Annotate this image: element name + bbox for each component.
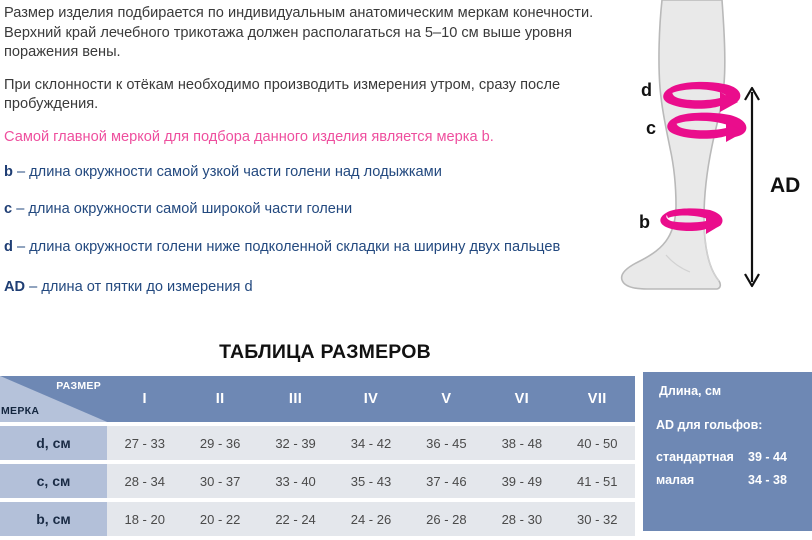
cell-d-4: 34 - 42 (333, 426, 408, 460)
intro-paragraph-1: Размер изделия подбирается по индивидуал… (4, 4, 600, 63)
definition-ad: AD – длина от пятки до измерения d (4, 278, 600, 298)
cell-d-1: 27 - 33 (107, 426, 182, 460)
row-label-c: c, см (0, 464, 107, 498)
cell-d-2: 29 - 36 (182, 426, 257, 460)
table-header-row: РАЗМЕР МЕРКА I II III IV V VI VII (0, 376, 635, 422)
length-row-small: малая 34 - 38 (656, 473, 800, 487)
length-panel-title: Длина, см (659, 384, 800, 398)
cell-d-7: 40 - 50 (560, 426, 635, 460)
row-label-d: d, см (0, 426, 107, 460)
cell-c-2: 30 - 37 (182, 464, 257, 498)
definition-b-text: длина окружности самой узкой части голен… (29, 164, 442, 180)
definition-d-text: длина окружности голени ниже подколенной… (29, 239, 560, 255)
size-table: РАЗМЕР МЕРКА I II III IV V VI VII d, см … (0, 372, 635, 540)
size-table-title: ТАБЛИЦА РАЗМЕРОВ (0, 341, 650, 364)
cell-c-3: 33 - 40 (258, 464, 333, 498)
definition-c: c – длина окружности самой широкой части… (4, 200, 600, 220)
length-row-small-name: малая (656, 473, 694, 487)
length-row-standard: стандартная 39 - 44 (656, 450, 800, 464)
definition-d-key: d (4, 239, 13, 255)
highlight-note: Самой главной меркой для подбора данного… (4, 128, 600, 148)
column-header-2: II (182, 376, 257, 422)
table-corner-cell: РАЗМЕР МЕРКА (0, 376, 107, 422)
diagram-label-ad: AD (770, 174, 800, 197)
column-header-6: VI (484, 376, 559, 422)
column-header-4: IV (333, 376, 408, 422)
definition-c-key: c (4, 201, 12, 217)
length-row-standard-value: 39 - 44 (748, 450, 800, 464)
ad-dimension-arrow-icon (745, 88, 759, 286)
cell-c-4: 35 - 43 (333, 464, 408, 498)
corner-size-label: РАЗМЕР (56, 380, 101, 392)
diagram-label-d: d (641, 80, 652, 100)
leg-measurement-diagram: d c b AD (600, 0, 812, 336)
column-header-7: VII (560, 376, 635, 422)
table-row: c, см 28 - 34 30 - 37 33 - 40 35 - 43 37… (0, 464, 635, 498)
length-info-panel: Длина, см AD для гольфов: стандартная 39… (643, 372, 812, 531)
definition-ad-key: AD (4, 279, 25, 295)
definition-c-dash: – (16, 201, 24, 217)
definition-b-dash: – (17, 164, 25, 180)
diagram-label-b: b (639, 212, 650, 232)
cell-c-1: 28 - 34 (107, 464, 182, 498)
cell-c-6: 39 - 49 (484, 464, 559, 498)
definition-b-key: b (4, 164, 13, 180)
column-header-1: I (107, 376, 182, 422)
length-row-small-value: 34 - 38 (748, 473, 800, 487)
leg-silhouette-icon (622, 0, 725, 289)
definition-ad-text: длина от пятки до измерения d (41, 279, 252, 295)
cell-d-3: 32 - 39 (258, 426, 333, 460)
corner-merka-label: МЕРКА (1, 405, 39, 417)
length-row-standard-name: стандартная (656, 450, 734, 464)
size-table-wrapper: РАЗМЕР МЕРКА I II III IV V VI VII d, см … (0, 372, 635, 540)
diagram-label-c: c (646, 118, 656, 138)
definition-ad-dash: – (29, 279, 37, 295)
cell-c-7: 41 - 51 (560, 464, 635, 498)
definition-d: d – длина окружности голени ниже подколе… (4, 238, 600, 258)
definition-b: b – длина окружности самой узкой части г… (4, 163, 600, 183)
definition-d-dash: – (17, 239, 25, 255)
length-panel-subtitle: AD для гольфов: (656, 418, 800, 432)
intro-paragraph-2: При склонности к отёкам необходимо произ… (4, 76, 600, 115)
cell-d-5: 36 - 45 (409, 426, 484, 460)
description-text-column: Размер изделия подбирается по индивидуал… (4, 4, 600, 316)
column-header-3: III (258, 376, 333, 422)
table-row: d, см 27 - 33 29 - 36 32 - 39 34 - 42 36… (0, 426, 635, 460)
cell-d-6: 38 - 48 (484, 426, 559, 460)
column-header-5: V (409, 376, 484, 422)
cell-c-5: 37 - 46 (409, 464, 484, 498)
definition-c-text: длина окружности самой широкой части гол… (28, 201, 352, 217)
